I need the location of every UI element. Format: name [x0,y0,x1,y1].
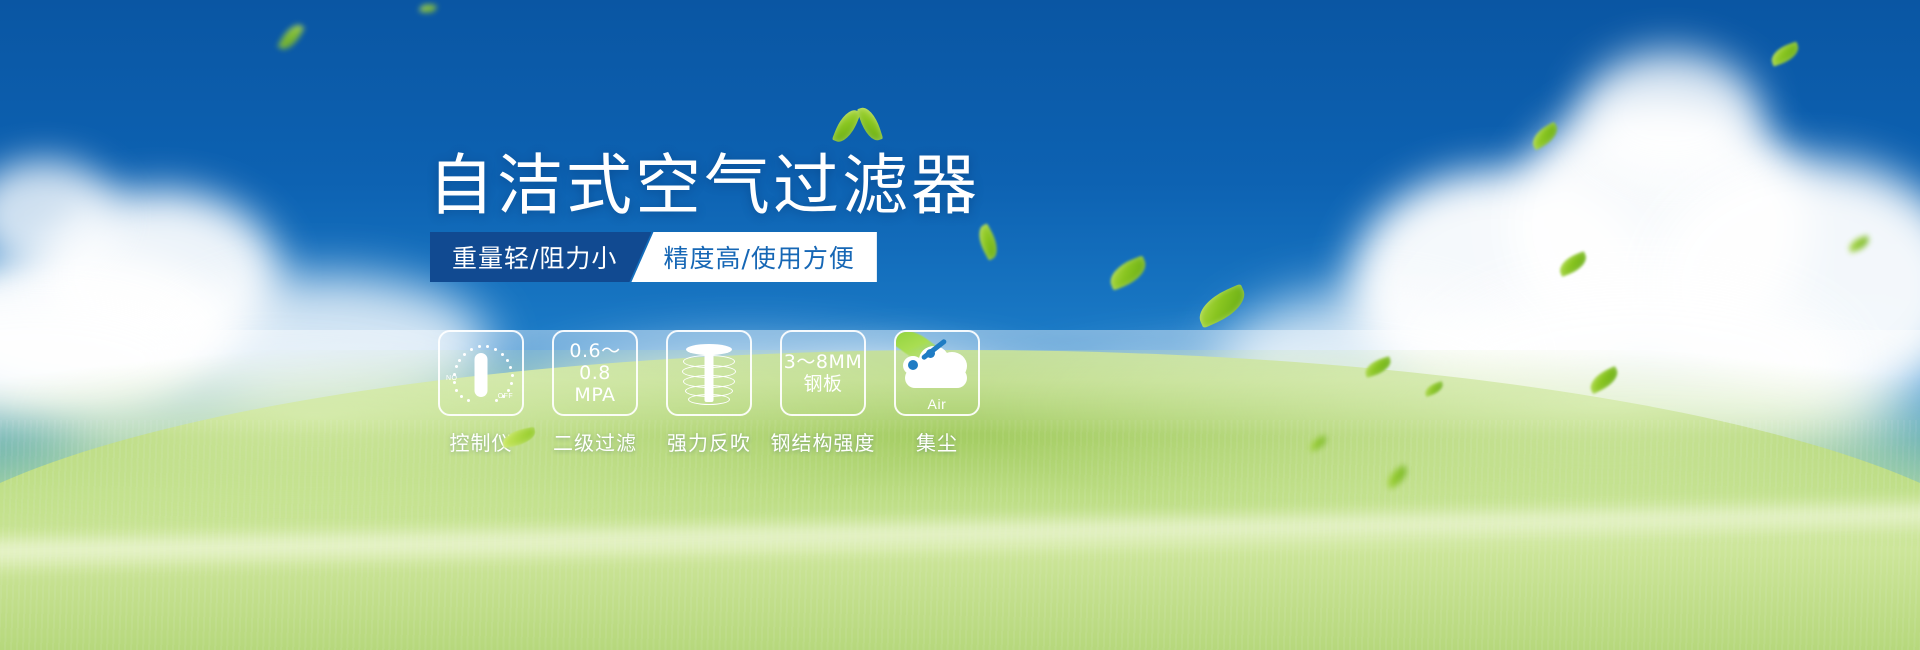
feature-icon-box: NO OFF [438,330,524,416]
tab-weight-resistance[interactable]: 重量轻/阻力小 [430,232,651,282]
steel-material: 钢板 [784,373,862,395]
cartridge-top [686,344,732,355]
pressure-text-icon: 0.6～0.8 MPA [554,340,636,406]
feature-label: 强力反吹 [667,427,751,456]
feature-icon-box: 0.6～0.8 MPA [552,330,638,416]
air-label: Air [899,396,975,412]
gauge-dial-icon: NO OFF [445,337,517,409]
feature-label: 集尘 [916,427,958,456]
cloud-hole [908,360,918,370]
pressure-unit: MPA [554,384,636,406]
banner-title: 自洁式空气过滤器 [428,132,980,228]
feature-icon-box [666,330,752,416]
feature-item-dust-collection[interactable]: Air 集尘 [894,330,980,456]
feature-item-steel-strength[interactable]: 3～8MM 钢板 钢结构强度 [780,330,866,456]
hero-banner: 自洁式空气过滤器 重量轻/阻力小 精度高/使用方便 [0,0,1920,650]
feature-label: 钢结构强度 [771,427,876,456]
banner-content: 自洁式空气过滤器 重量轻/阻力小 精度高/使用方便 [0,0,1920,650]
cloud-base [905,368,967,388]
gauge-label-on: NO [446,375,457,382]
feature-icon-box: Air [894,330,980,416]
tab-precision-convenience[interactable]: 精度高/使用方便 [631,232,876,282]
feature-tabs: 重量轻/阻力小 精度高/使用方便 [430,232,877,282]
steel-thickness: 3～8MM [784,351,862,373]
steel-plate-text-icon: 3～8MM 钢板 [784,351,862,395]
feature-icon-box: 3～8MM 钢板 [780,330,866,416]
feature-item-backflush[interactable]: 强力反吹 [666,330,752,456]
gauge-needle [475,353,488,397]
cloud-hole [926,349,935,358]
feature-item-secondary-filter[interactable]: 0.6～0.8 MPA 二级过滤 [552,330,638,456]
feature-label: 二级过滤 [553,427,637,456]
gauge-label-off: OFF [498,393,513,400]
feature-icon-list: NO OFF 控制仪 0.6～0.8 MPA 二级过滤 [438,330,980,456]
filter-cartridge-icon [679,342,739,404]
pressure-value: 0.6～0.8 [554,340,636,384]
air-cloud-icon: Air [899,338,975,408]
